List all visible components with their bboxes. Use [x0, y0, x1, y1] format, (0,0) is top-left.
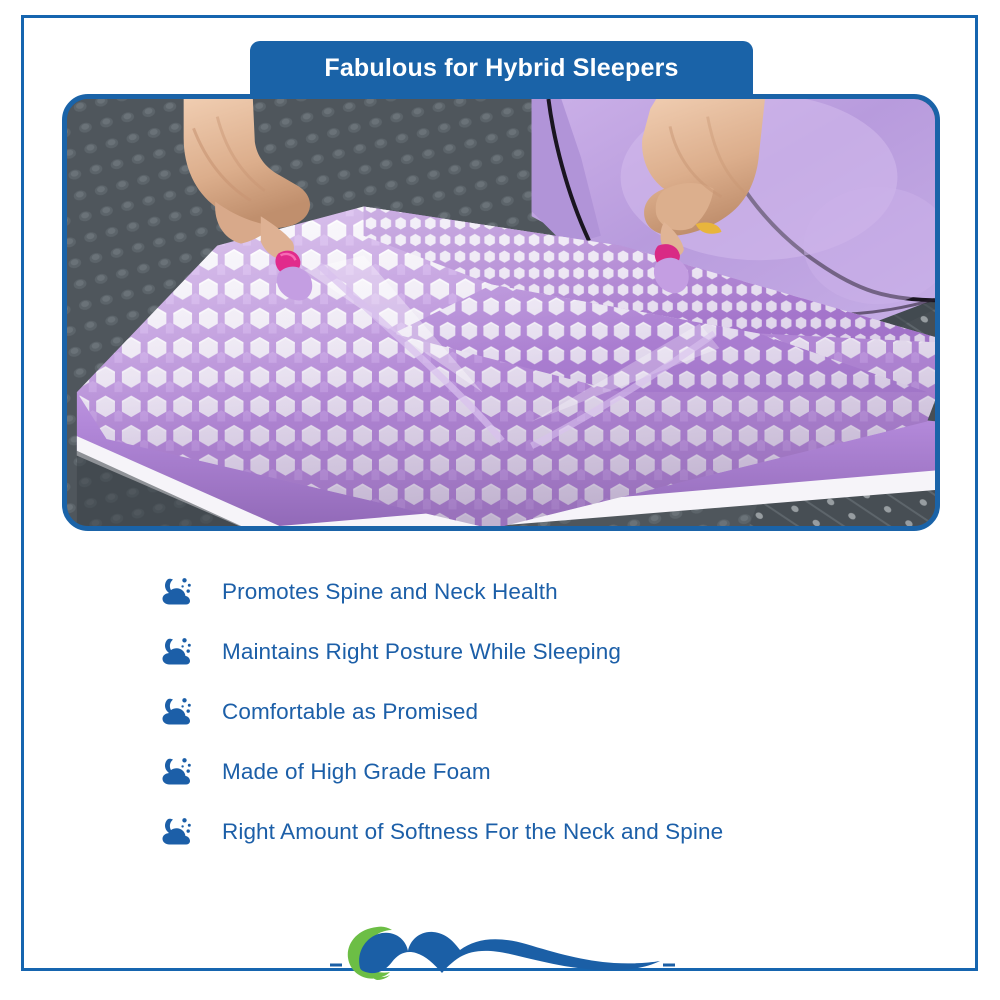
list-item: Maintains Right Posture While Sleeping	[160, 622, 920, 682]
moon-cloud-night-icon	[160, 757, 194, 787]
feature-list: Promotes Spine and Neck Health Maintains…	[160, 562, 920, 862]
list-item: Comfortable as Promised	[160, 682, 920, 742]
list-item-label: Right Amount of Softness For the Neck an…	[222, 819, 723, 845]
product-photo	[62, 94, 940, 531]
moon-cloud-night-icon	[160, 817, 194, 847]
title-banner: Fabulous for Hybrid Sleepers	[250, 41, 753, 96]
list-item-label: Made of High Grade Foam	[222, 759, 491, 785]
page-title: Fabulous for Hybrid Sleepers	[324, 54, 678, 83]
list-item: Made of High Grade Foam	[160, 742, 920, 802]
blue-wave	[359, 932, 660, 973]
moon-cloud-night-icon	[160, 697, 194, 727]
list-item-label: Maintains Right Posture While Sleeping	[222, 639, 621, 665]
moon-cloud-night-icon	[160, 577, 194, 607]
product-photo-illustration	[67, 99, 935, 526]
list-item: Promotes Spine and Neck Health	[160, 562, 920, 622]
list-item: Right Amount of Softness For the Neck an…	[160, 802, 920, 862]
list-item-label: Comfortable as Promised	[222, 699, 478, 725]
wave-brand-logo	[330, 920, 675, 982]
list-item-label: Promotes Spine and Neck Health	[222, 579, 558, 605]
moon-cloud-night-icon	[160, 637, 194, 667]
wave-brand-logo-mark	[330, 920, 675, 982]
